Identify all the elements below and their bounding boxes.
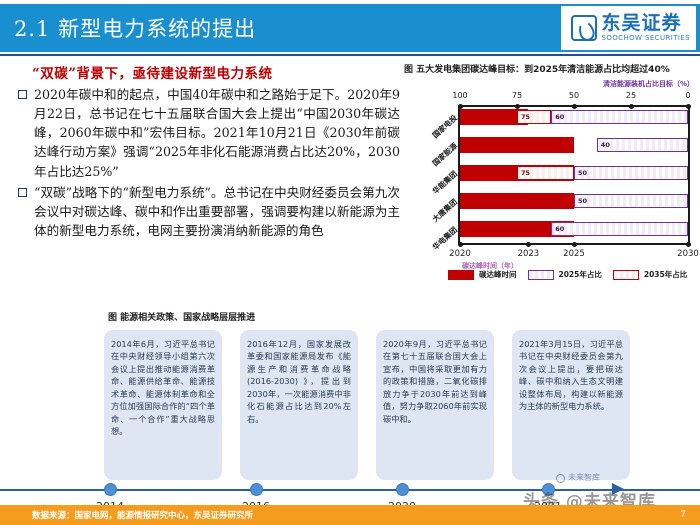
chart-bar-share-2035: 75 bbox=[517, 110, 551, 124]
timeline-node-dot bbox=[104, 483, 117, 496]
chart-bottom-tick bbox=[526, 242, 531, 247]
logo-chinese-name: 东吴证券 bbox=[602, 14, 690, 33]
content-left-column: “双碳”背景下，亟待建设新型电力系统 2020年碳中和的起点，中国40年碳中和之… bbox=[8, 62, 400, 242]
timeline-node-dot bbox=[396, 483, 409, 496]
chart-bar-share-2025: 60 bbox=[551, 110, 688, 124]
chart-bar-peak-year bbox=[460, 137, 574, 153]
brand-logo: 东吴证券 SOOCHOW SECURITIES bbox=[561, 6, 696, 50]
bullet-item: 2020年碳中和的起点，中国40年碳中和之路始于足下。2020年9月22日，总书… bbox=[8, 85, 400, 181]
logo-english-name: SOOCHOW SECURITIES bbox=[602, 35, 690, 42]
page-header: 2.1 新型电力系统的提出 东吴证券 SOOCHOW SECURITIES bbox=[0, 4, 700, 52]
page-title: 2.1 新型电力系统的提出 bbox=[14, 13, 256, 43]
chart-top-tick bbox=[515, 104, 520, 109]
chart-bottom-tick bbox=[458, 242, 463, 247]
chart-legend-swatch bbox=[613, 270, 639, 280]
footer-page-number: 7 bbox=[680, 510, 686, 520]
footer-source: 数据来源：国家电网，能源情报研究中心，东吴证券研究所 bbox=[32, 509, 253, 521]
timeline-card: 2021年3月15日，习近平总书记在中央财经委员会第九次会议上提出，要把碳达峰、… bbox=[512, 330, 630, 480]
watermark-badge-icon bbox=[556, 474, 565, 483]
chart-top-tick-label: 50 bbox=[569, 91, 579, 100]
chart-top-tick bbox=[629, 104, 634, 109]
chart-bar-peak-year bbox=[460, 193, 574, 209]
chart-top-tick-label: 75 bbox=[512, 91, 522, 100]
chart-bottom-tick-label: 2023 bbox=[518, 249, 540, 259]
chart-top-tick bbox=[686, 104, 691, 109]
chart-bottom-tick bbox=[572, 242, 577, 247]
page-footer: 数据来源：国家电网，能源情报研究中心，东吴证券研究所 7 bbox=[0, 505, 700, 525]
chart-bar-share-2035: 75 bbox=[517, 166, 574, 180]
chart-plot-area: 清洁能源装机占比目标（%） 10075502502020202320252030… bbox=[404, 79, 696, 279]
chart-title: 图 五大发电集团碳达峰目标：到2025年清洁能源占比均超过40% bbox=[404, 62, 696, 75]
chart-panel: 图 五大发电集团碳达峰目标：到2025年清洁能源占比均超过40% 清洁能源装机占… bbox=[404, 62, 696, 279]
chart-bottom-tick-label: 2025 bbox=[563, 249, 585, 259]
chart-bottom-tick bbox=[686, 242, 691, 247]
chart-bar-value: 50 bbox=[578, 197, 587, 205]
chart-bar-value: 50 bbox=[578, 169, 587, 177]
chart-bar-value: 75 bbox=[521, 113, 530, 121]
timeline-card: 2014年6月，习近平总书记在中央财经领导小组第六次会议上提出推动能源消费革命、… bbox=[104, 330, 222, 480]
header-divider bbox=[0, 54, 700, 56]
chart-bar-value: 60 bbox=[555, 225, 564, 233]
chart-bar-value: 75 bbox=[521, 169, 530, 177]
chart-legend: 碳达峰时间2025年占比2035年占比 bbox=[448, 269, 693, 280]
timeline-node-dot bbox=[250, 483, 263, 496]
chart-legend-label: 碳达峰时间 bbox=[479, 269, 517, 280]
chart-right-axis bbox=[688, 105, 690, 245]
chart-bar-share-2025: 50 bbox=[574, 166, 688, 180]
chart-bottom-tick-label: 2030 bbox=[677, 249, 699, 259]
timeline-title: 图 能源相关政策、国家战略层层推进 bbox=[108, 310, 255, 323]
square-bullet-icon bbox=[18, 90, 27, 99]
section-heading: “双碳”背景下，亟待建设新型电力系统 bbox=[32, 62, 400, 82]
chart-bar-share-2025: 50 bbox=[574, 194, 688, 208]
chart-bar-share-2025: 60 bbox=[551, 222, 688, 236]
chart-top-axis-label: 清洁能源装机占比目标（%） bbox=[603, 79, 694, 89]
square-bullet-icon bbox=[18, 188, 27, 197]
chart-top-tick-label: 0 bbox=[685, 91, 690, 100]
watermark-small: 未来智库 bbox=[568, 472, 600, 483]
bullet-item: “双碳”战略下的“新型电力系统”。总书记在中央财经委员会第九次会议中对碳达峰、碳… bbox=[8, 183, 400, 240]
chart-bar-value: 60 bbox=[555, 113, 564, 121]
chart-bar-share-2025: 40 bbox=[597, 138, 688, 152]
chart-bar-value: 40 bbox=[601, 141, 610, 149]
chart-legend-label: 2025年占比 bbox=[559, 269, 602, 280]
bullet-text: “双碳”战略下的“新型电力系统”。总书记在中央财经委员会第九次会议中对碳达峰、碳… bbox=[34, 183, 400, 240]
timeline-card: 2020年9月，习近平总书记在第七十五届联合国大会上宣布，中国将采取更加有力的政… bbox=[376, 330, 494, 480]
timeline-card: 2016年12月，国家发展改革委和国家能源局发布《能源生产和消费革命战略 (20… bbox=[240, 330, 358, 480]
chart-legend-swatch bbox=[448, 270, 474, 280]
bullet-text: 2020年碳中和的起点，中国40年碳中和之路始于足下。2020年9月22日，总书… bbox=[34, 85, 400, 181]
chart-top-tick bbox=[572, 104, 577, 109]
chart-top-tick-label: 100 bbox=[452, 91, 467, 100]
chart-legend-label: 2035年占比 bbox=[644, 269, 687, 280]
chart-top-tick bbox=[458, 104, 463, 109]
chart-top-tick-label: 25 bbox=[626, 91, 636, 100]
soochow-logo-icon bbox=[571, 15, 597, 41]
chart-legend-swatch bbox=[528, 270, 554, 280]
chart-bottom-tick-label: 2020 bbox=[449, 249, 471, 259]
timeline-card-list: 2014年6月，习近平总书记在中央财经领导小组第六次会议上提出推动能源消费革命、… bbox=[104, 330, 694, 480]
